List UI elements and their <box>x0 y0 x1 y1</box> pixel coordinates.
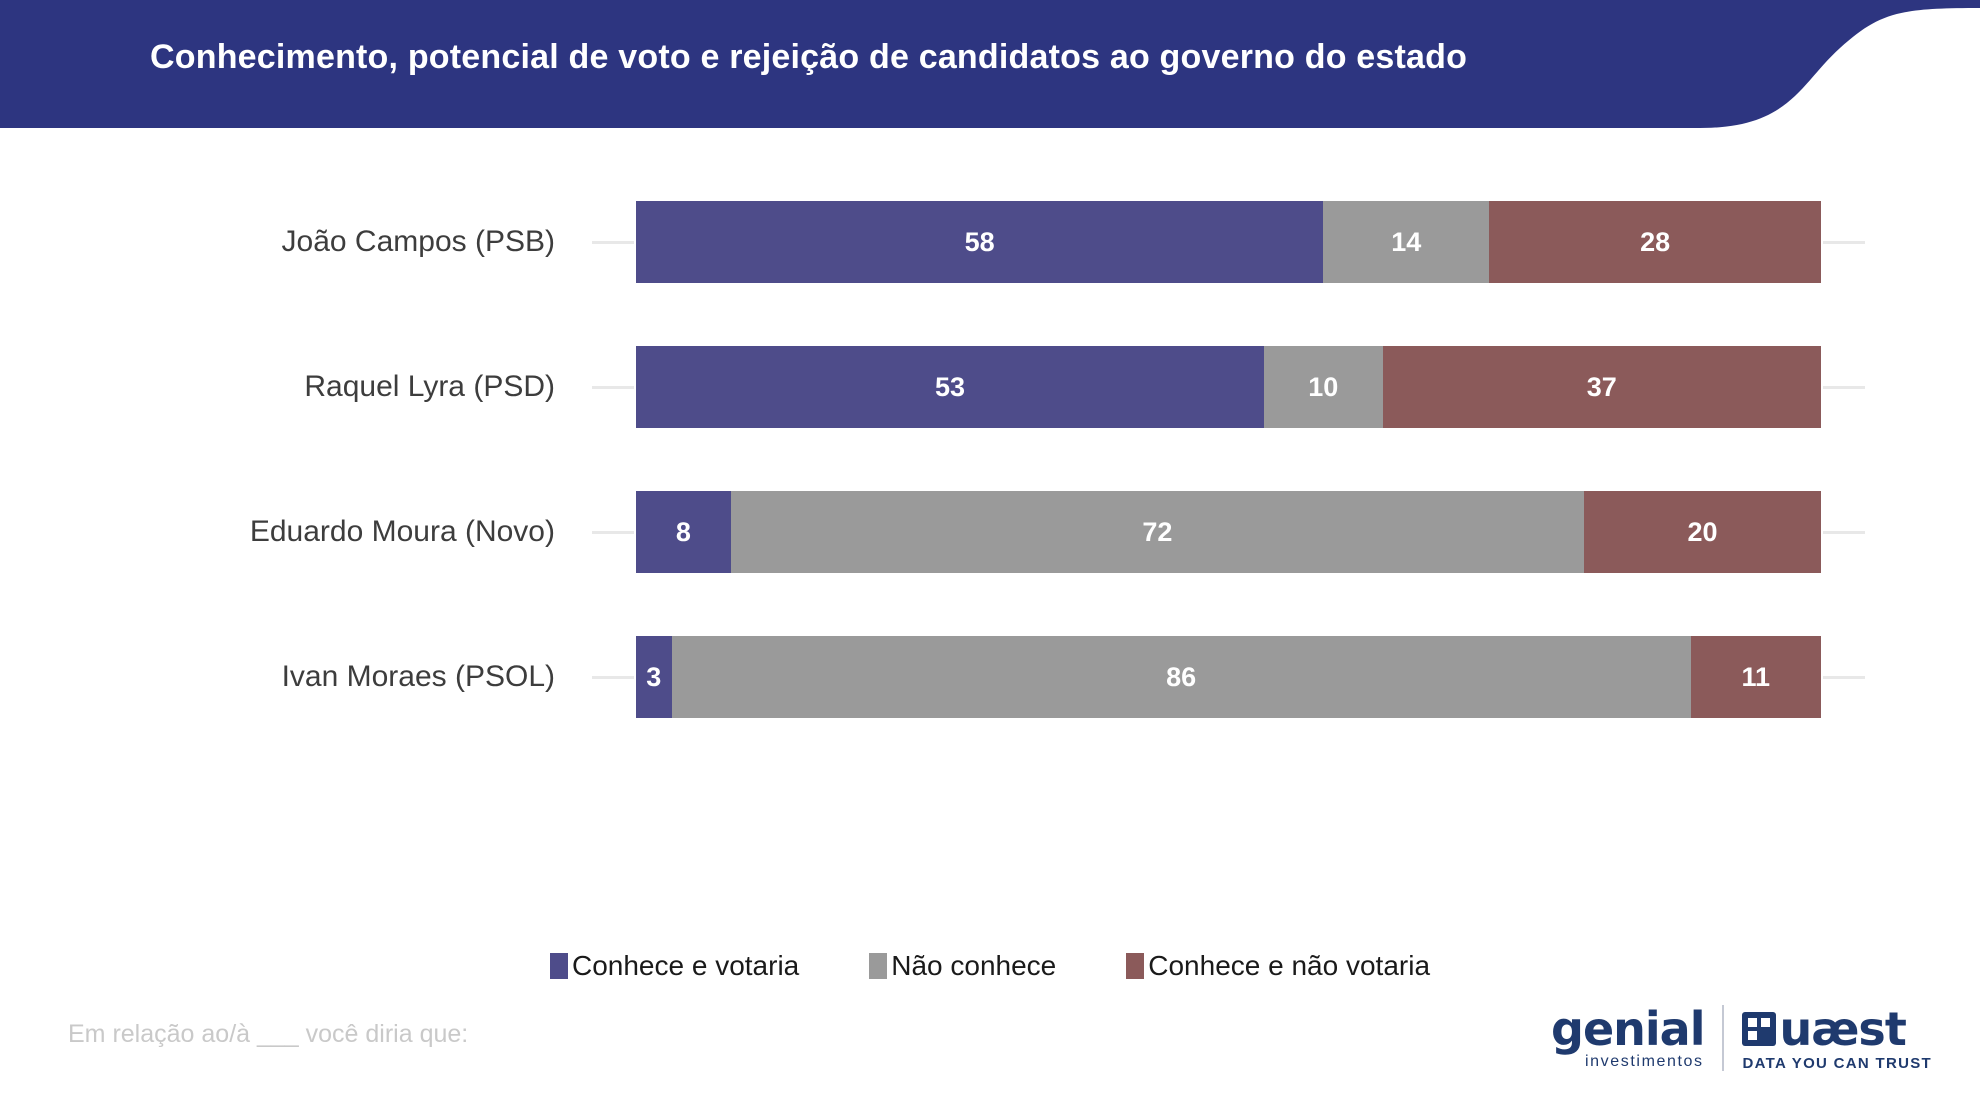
quaest-wordmark: uæst <box>1779 1006 1905 1052</box>
bar-segment[interactable]: 53 <box>636 346 1264 428</box>
axis-tick-left <box>592 676 634 679</box>
quaest-tagline: DATA YOU CAN TRUST <box>1742 1056 1932 1071</box>
category-label: Raquel Lyra (PSD) <box>304 335 555 439</box>
question-footnote: Em relação ao/à ___ você diria que: <box>68 1020 468 1049</box>
chart-legend: Conhece e votariaNão conheceConhece e nã… <box>0 950 1980 982</box>
axis-tick-left <box>592 241 634 244</box>
stacked-bar[interactable]: 87220 <box>636 491 1821 573</box>
legend-label: Conhece e não votaria <box>1148 950 1430 982</box>
stacked-bar-chart: João Campos (PSB)581428Raquel Lyra (PSD)… <box>0 140 1980 960</box>
legend-swatch-icon <box>1126 953 1144 979</box>
genial-wordmark: genial <box>1551 1006 1704 1052</box>
chart-row: Eduardo Moura (Novo)87220 <box>0 480 1980 584</box>
legend-item[interactable]: Conhece e não votaria <box>1126 950 1430 982</box>
stacked-bar[interactable]: 531037 <box>636 346 1821 428</box>
bar-segment[interactable]: 86 <box>672 636 1691 718</box>
legend-swatch-icon <box>550 953 568 979</box>
category-label: João Campos (PSB) <box>282 190 555 294</box>
bar-segment[interactable]: 8 <box>636 491 731 573</box>
bar-segment[interactable]: 3 <box>636 636 672 718</box>
genial-tagline: investimentos <box>1585 1054 1704 1070</box>
chart-row: Raquel Lyra (PSD)531037 <box>0 335 1980 439</box>
stacked-bar[interactable]: 581428 <box>636 201 1821 283</box>
bar-segment[interactable]: 28 <box>1489 201 1821 283</box>
bar-segment[interactable]: 11 <box>1691 636 1821 718</box>
legend-item[interactable]: Conhece e votaria <box>550 950 799 982</box>
bar-segment[interactable]: 72 <box>731 491 1584 573</box>
axis-tick-left <box>592 386 634 389</box>
chart-page: Conhecimento, potencial de voto e rejeiç… <box>0 0 1980 1104</box>
bar-segment[interactable]: 10 <box>1264 346 1383 428</box>
axis-tick-right <box>1823 241 1865 244</box>
logo-group: genial investimentos uæst DATA YOU CAN T… <box>1551 1005 1932 1071</box>
quaest-logo: uæst DATA YOU CAN TRUST <box>1742 1006 1932 1071</box>
axis-tick-left <box>592 531 634 534</box>
axis-tick-right <box>1823 386 1865 389</box>
page-title: Conhecimento, potencial de voto e rejeiç… <box>150 38 1467 77</box>
axis-tick-right <box>1823 531 1865 534</box>
bar-segment[interactable]: 20 <box>1584 491 1821 573</box>
legend-label: Conhece e votaria <box>572 950 799 982</box>
header-band: Conhecimento, potencial de voto e rejeiç… <box>0 0 1980 140</box>
chart-row: João Campos (PSB)581428 <box>0 190 1980 294</box>
quaest-square-icon <box>1742 1012 1776 1046</box>
chart-row: Ivan Moraes (PSOL)38611 <box>0 625 1980 729</box>
quaest-wordmark-row: uæst <box>1742 1006 1905 1052</box>
bar-segment[interactable]: 14 <box>1323 201 1489 283</box>
legend-item[interactable]: Não conhece <box>869 950 1056 982</box>
stacked-bar[interactable]: 38611 <box>636 636 1821 718</box>
bar-segment[interactable]: 37 <box>1383 346 1821 428</box>
category-label: Eduardo Moura (Novo) <box>250 480 555 584</box>
legend-swatch-icon <box>869 953 887 979</box>
legend-label: Não conhece <box>891 950 1056 982</box>
axis-tick-right <box>1823 676 1865 679</box>
logo-divider <box>1722 1005 1724 1071</box>
bar-segment[interactable]: 58 <box>636 201 1323 283</box>
genial-logo: genial investimentos <box>1551 1006 1704 1070</box>
category-label: Ivan Moraes (PSOL) <box>282 625 555 729</box>
